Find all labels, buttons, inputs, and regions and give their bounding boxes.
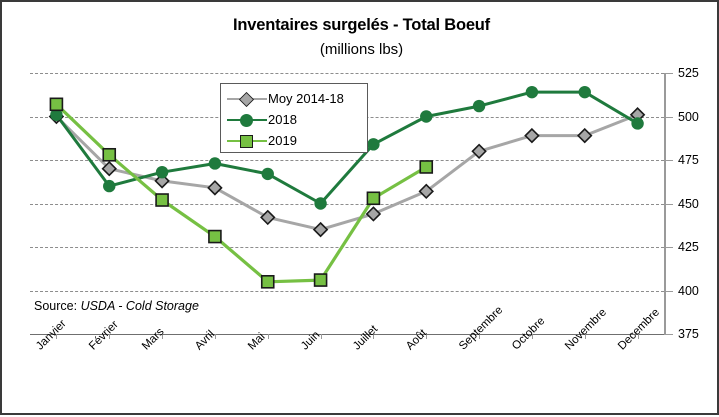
y-axis-label: 450: [678, 197, 699, 211]
legend-item-2018[interactable]: 2018: [227, 109, 367, 130]
data-point-circle-marker: [314, 197, 326, 209]
y-axis-label: 525: [678, 66, 699, 80]
data-point-circle-marker: [103, 180, 115, 192]
data-point-circle-marker: [420, 110, 432, 122]
data-point-circle-marker: [209, 157, 221, 169]
y-axis-tick: [664, 334, 673, 335]
data-point-diamond-marker: [367, 207, 380, 220]
y-axis-tick: [664, 160, 673, 161]
data-point-circle-marker: [262, 168, 274, 180]
chart-frame: Inventaires surgelés - Total Boeuf (mill…: [0, 0, 719, 415]
data-point-diamond-marker: [314, 223, 327, 236]
chart-legend: Moy 2014-18 2018 2019: [220, 83, 368, 153]
data-point-diamond-marker: [525, 129, 538, 142]
data-point-circle-marker: [631, 117, 643, 129]
legend-key-diamond-icon: [227, 91, 267, 107]
data-point-diamond-marker: [208, 181, 221, 194]
data-point-square-marker: [315, 274, 327, 286]
y-axis-tick: [664, 247, 673, 248]
legend-key-circle-icon: [227, 112, 267, 128]
legend-item-2019[interactable]: 2019: [227, 130, 367, 151]
data-point-diamond-marker: [578, 129, 591, 142]
data-point-circle-marker: [156, 166, 168, 178]
data-point-square-marker: [367, 192, 379, 204]
y-axis-label: 375: [678, 327, 699, 341]
y-axis-tick: [664, 117, 673, 118]
legend-item-moy[interactable]: Moy 2014-18: [227, 88, 367, 109]
series-layer: [2, 2, 719, 417]
source-prefix: Source:: [34, 299, 81, 313]
data-point-square-marker: [103, 149, 115, 161]
y-axis-tick: [664, 73, 673, 74]
data-point-circle-marker: [579, 86, 591, 98]
data-point-circle-marker: [473, 100, 485, 112]
y-axis-label: 475: [678, 153, 699, 167]
legend-label-2019: 2019: [267, 133, 297, 148]
legend-label-moy: Moy 2014-18: [267, 91, 344, 106]
data-point-square-marker: [209, 231, 221, 243]
data-point-circle-marker: [367, 138, 379, 150]
data-point-square-marker: [420, 161, 432, 173]
y-axis-tick: [664, 204, 673, 205]
legend-label-2018: 2018: [267, 112, 297, 127]
data-point-square-marker: [156, 194, 168, 206]
y-axis-label: 400: [678, 284, 699, 298]
data-point-square-marker: [50, 98, 62, 110]
data-point-circle-marker: [526, 86, 538, 98]
legend-key-square-icon: [227, 133, 267, 149]
y-axis-tick: [664, 291, 673, 292]
source-note: Source: USDA - Cold Storage: [34, 299, 199, 313]
data-point-diamond-marker: [261, 211, 274, 224]
x-axis-tick: [268, 334, 269, 339]
y-axis-label: 500: [678, 110, 699, 124]
y-axis-label: 425: [678, 240, 699, 254]
data-point-square-marker: [262, 276, 274, 288]
source-value: USDA - Cold Storage: [81, 299, 199, 313]
